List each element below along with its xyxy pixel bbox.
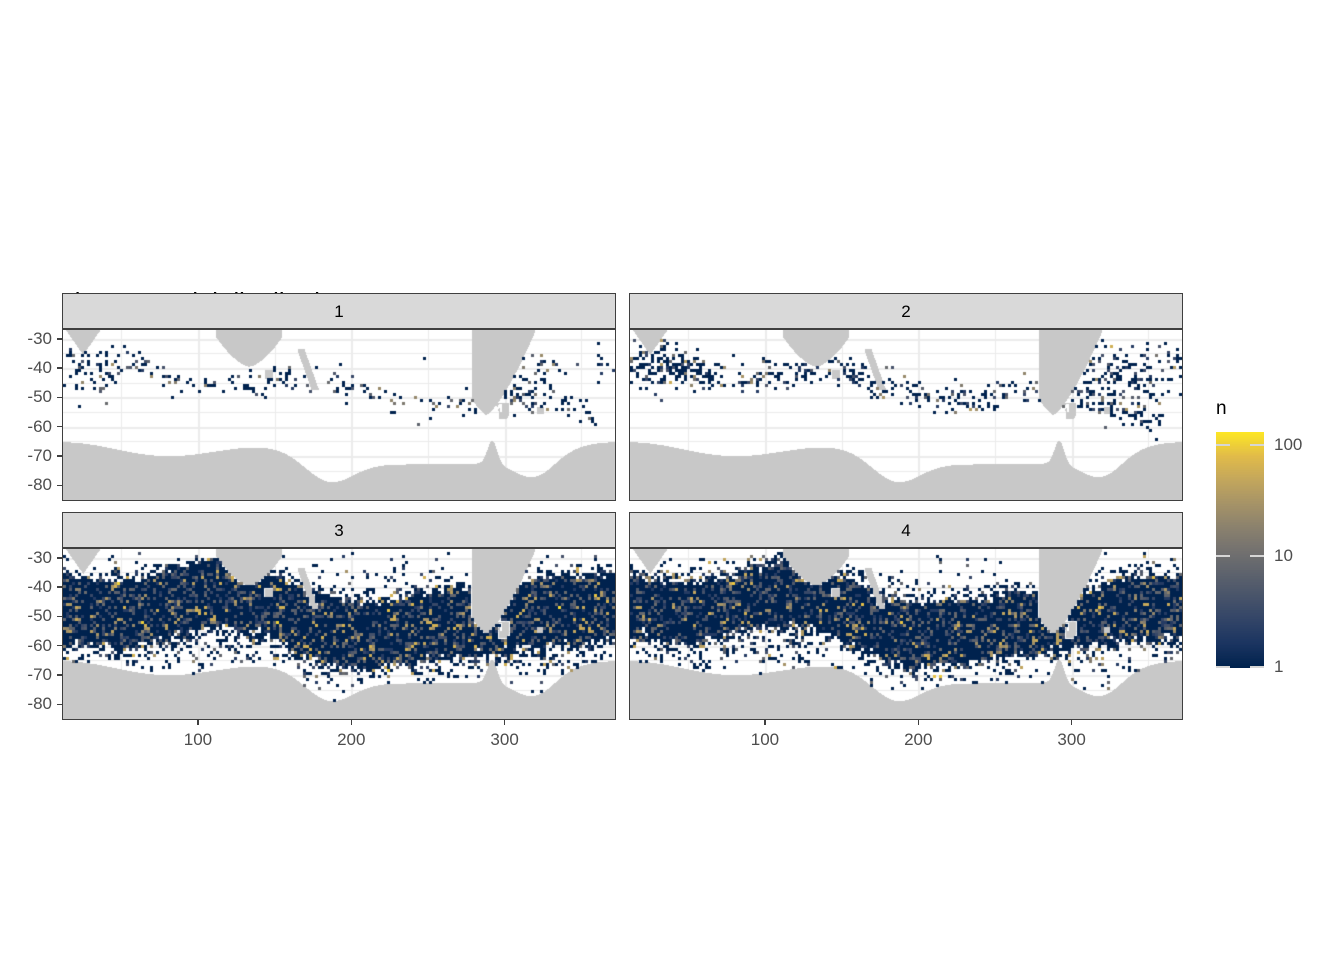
facet-strip-label: 2 xyxy=(901,303,910,320)
y-axis-tick-label: -70 xyxy=(27,665,52,685)
facet-panel-2: 2 xyxy=(629,293,1183,501)
x-axis-tick-label: 200 xyxy=(904,730,932,750)
facet-strip-3: 3 xyxy=(62,512,616,548)
y-axis-tick-label: -60 xyxy=(27,417,52,437)
x-axis-tick-label: 100 xyxy=(184,730,212,750)
y-axis-tick-mark xyxy=(57,645,62,647)
y-axis-tick-label: -50 xyxy=(27,387,52,407)
y-axis-tick-mark xyxy=(57,557,62,559)
y-axis-tick-mark xyxy=(57,367,62,369)
legend-tick-mark xyxy=(1216,444,1230,446)
y-axis-tick-label: -70 xyxy=(27,446,52,466)
y-axis-tick-label: -40 xyxy=(27,577,52,597)
facet-panel-1: 1 xyxy=(62,293,616,501)
facet-strip-label: 1 xyxy=(334,303,343,320)
y-axis-tick-mark xyxy=(57,455,62,457)
y-axis-tick-label: -80 xyxy=(27,694,52,714)
chart-root: cluster spatial distribution type = base… xyxy=(0,0,1344,960)
y-axis-tick-mark xyxy=(57,485,62,487)
facet-plot-area-2 xyxy=(629,329,1183,501)
legend-tick-label: 100 xyxy=(1274,435,1302,455)
legend-colorbar xyxy=(1216,432,1264,668)
heatmap-canvas-3 xyxy=(63,549,615,719)
legend-tick-label: 1 xyxy=(1274,657,1283,677)
y-axis-tick-label: -60 xyxy=(27,636,52,656)
facet-plot-area-1 xyxy=(62,329,616,501)
facet-strip-2: 2 xyxy=(629,293,1183,329)
x-axis-tick-label: 200 xyxy=(337,730,365,750)
legend-tick-mark xyxy=(1216,666,1230,668)
y-axis-tick-label: -80 xyxy=(27,475,52,495)
facet-strip-1: 1 xyxy=(62,293,616,329)
y-axis-tick-mark xyxy=(57,338,62,340)
y-axis-tick-label: -50 xyxy=(27,606,52,626)
heatmap-canvas-1 xyxy=(63,330,615,500)
legend-tick-mark xyxy=(1250,444,1264,446)
legend-tick-mark xyxy=(1216,555,1230,557)
y-axis-tick-label: -30 xyxy=(27,548,52,568)
y-axis-tick-mark xyxy=(57,674,62,676)
y-axis-tick-mark xyxy=(57,397,62,399)
facet-strip-label: 3 xyxy=(334,522,343,539)
legend-title: n xyxy=(1216,398,1227,420)
legend-tick-mark xyxy=(1250,666,1264,668)
x-axis-tick-label: 300 xyxy=(490,730,518,750)
facet-plot-area-4 xyxy=(629,548,1183,720)
heatmap-canvas-4 xyxy=(630,549,1182,719)
y-axis-tick-mark xyxy=(57,704,62,706)
facet-strip-label: 4 xyxy=(901,522,910,539)
heatmap-canvas-2 xyxy=(630,330,1182,500)
x-axis-tick-mark xyxy=(1071,720,1073,725)
x-axis-tick-label: 100 xyxy=(751,730,779,750)
legend-tick-mark xyxy=(1250,555,1264,557)
y-axis-tick-label: -30 xyxy=(27,329,52,349)
legend-tick-label: 10 xyxy=(1274,546,1293,566)
x-axis-tick-mark xyxy=(764,720,766,725)
facet-panel-4: 4 xyxy=(629,512,1183,720)
facet-panel-3: 3 xyxy=(62,512,616,720)
y-axis-tick-mark xyxy=(57,586,62,588)
x-axis-tick-mark xyxy=(504,720,506,725)
facet-plot-area-3 xyxy=(62,548,616,720)
x-axis-tick-label: 300 xyxy=(1057,730,1085,750)
y-axis-tick-mark xyxy=(57,616,62,618)
y-axis-tick-label: -40 xyxy=(27,358,52,378)
x-axis-tick-mark xyxy=(197,720,199,725)
x-axis-tick-mark xyxy=(351,720,353,725)
y-axis-tick-mark xyxy=(57,426,62,428)
facet-strip-4: 4 xyxy=(629,512,1183,548)
x-axis-tick-mark xyxy=(918,720,920,725)
